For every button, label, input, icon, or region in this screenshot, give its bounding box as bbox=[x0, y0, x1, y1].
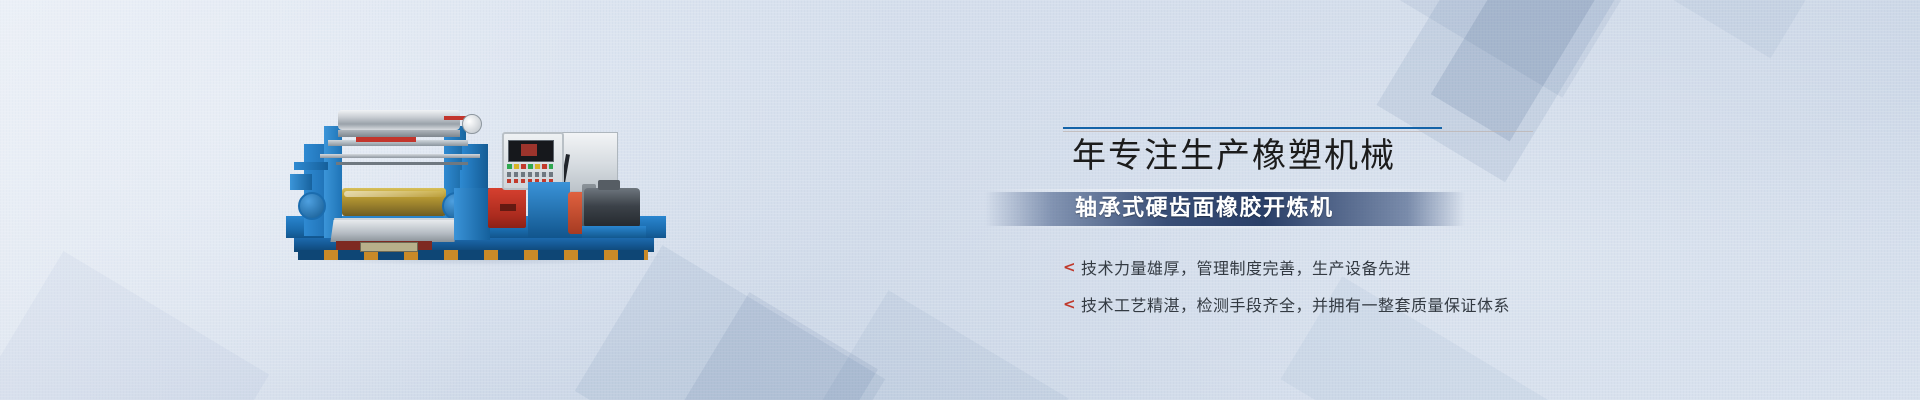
machine-side-block bbox=[290, 174, 312, 190]
machine-nameplate bbox=[360, 242, 418, 252]
feature-item-label: 技术力量雄厚，管理制度完善，生产设备先进 bbox=[1081, 255, 1411, 279]
machine-column bbox=[454, 188, 490, 240]
machine-button-row bbox=[507, 164, 553, 169]
machine-feet bbox=[298, 250, 648, 260]
machine-control-screen-readout bbox=[521, 144, 537, 156]
machine-column-top bbox=[460, 170, 484, 190]
machine-top-roller bbox=[338, 110, 460, 130]
machine-motor-base bbox=[582, 226, 646, 238]
machine-top-roller-shade bbox=[338, 130, 460, 137]
machine-side-arm bbox=[294, 162, 328, 170]
machine-red-bar bbox=[356, 137, 416, 142]
page-title: 年专注生产橡塑机械 bbox=[1072, 135, 1396, 177]
machine-button-row bbox=[507, 172, 553, 177]
machine-gear-reducer bbox=[528, 182, 570, 238]
chevron-left-icon: < bbox=[1063, 295, 1081, 313]
machine-brass-roller-highlight bbox=[344, 191, 444, 197]
machine-handwheel bbox=[462, 114, 482, 134]
headline-rule bbox=[1063, 127, 1442, 129]
machine-motor bbox=[584, 188, 640, 228]
feature-item-label: 技术工艺精湛，检测手段齐全，并拥有一整套质量保证体系 bbox=[1081, 292, 1510, 316]
hero-banner: 年专注生产橡塑机械 轴承式硬齿面橡胶开炼机 < 技术力量雄厚，管理制度完善，生产… bbox=[0, 0, 1920, 400]
product-image bbox=[276, 96, 706, 266]
machine-bearing-cap-left bbox=[298, 192, 326, 220]
machine-tray bbox=[330, 220, 457, 242]
machine-shaft-upper bbox=[320, 154, 480, 158]
ribbon-highlight-bottom bbox=[990, 226, 1460, 228]
feature-list: < 技术力量雄厚，管理制度完善，生产设备先进 < 技术工艺精湛，检测手段齐全，并… bbox=[1063, 248, 1510, 322]
machine-shaft-lower bbox=[336, 162, 468, 165]
product-subtitle: 轴承式硬齿面橡胶开炼机 bbox=[1075, 194, 1334, 224]
feature-item: < 技术力量雄厚，管理制度完善，生产设备先进 bbox=[1063, 248, 1510, 285]
feature-item: < 技术工艺精湛，检测手段齐全，并拥有一整套质量保证体系 bbox=[1063, 285, 1510, 322]
machine-motor-terminal-box bbox=[598, 180, 620, 190]
machine-red-gearbox-label bbox=[500, 204, 516, 211]
chevron-left-icon: < bbox=[1063, 258, 1081, 276]
headline-rule-soft bbox=[1063, 131, 1533, 132]
